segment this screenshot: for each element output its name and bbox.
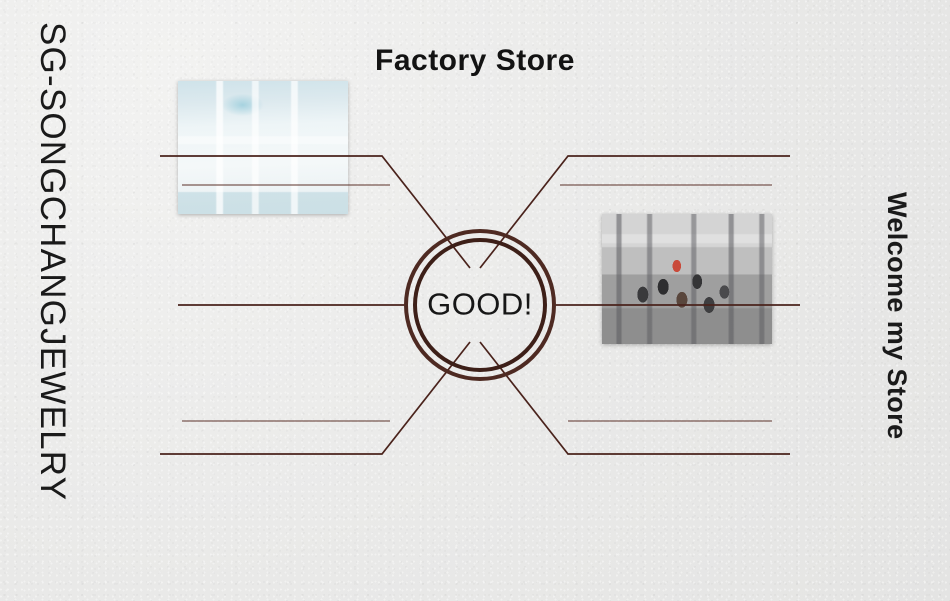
emblem-label: GOOD! [404,286,556,322]
infographic-banner: SG-SONGCHANGJEWELRY Welcome my Store Fac… [0,0,950,601]
center-emblem: GOOD! [404,229,556,381]
